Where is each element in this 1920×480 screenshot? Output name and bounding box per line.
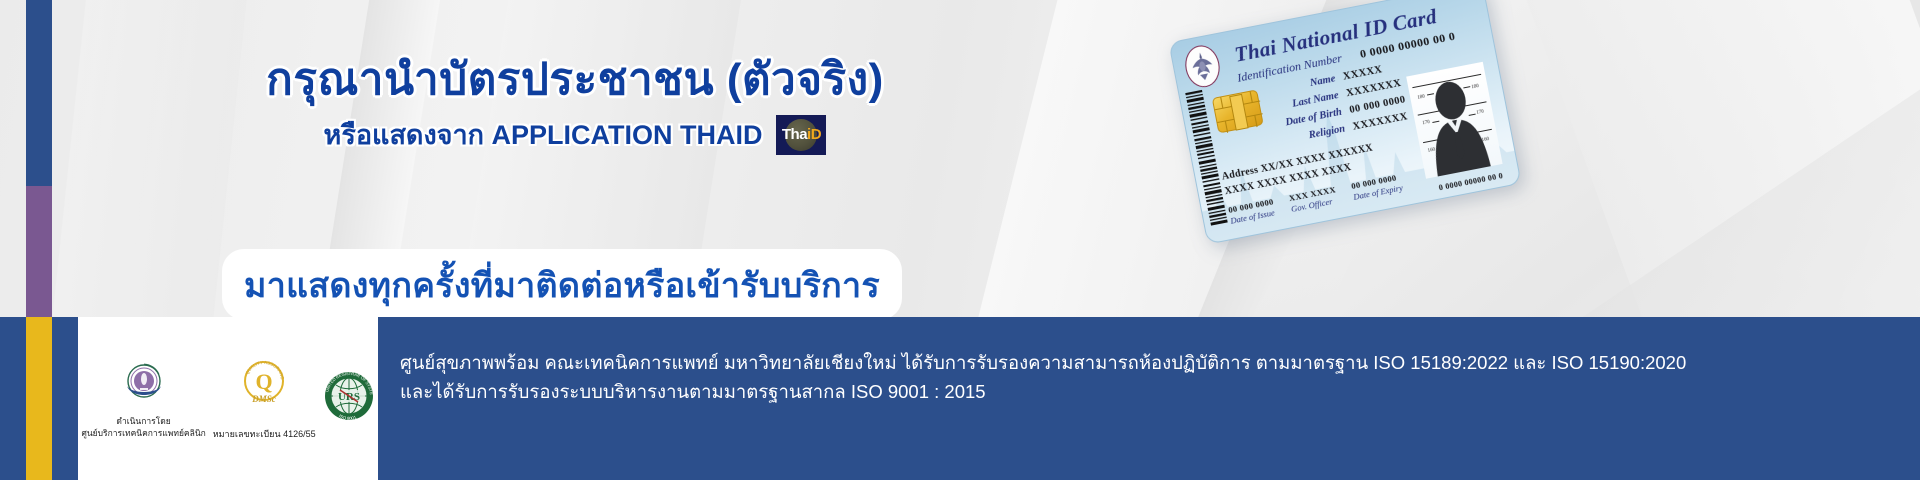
accreditation-logos: ดำเนินการโดย ศูนย์บริการเทคนิคการแพทย์คล… xyxy=(78,317,378,480)
footer-text-line: ศูนย์สุขภาพพร้อม คณะเทคนิคการแพทย์ มหาวิ… xyxy=(400,349,1880,378)
callout-pill-text: มาแสดงทุกครั้งที่มาติดต่อหรือเข้ารับบริก… xyxy=(244,258,880,312)
thaid-app-icon: ThaiD xyxy=(776,115,826,155)
garuda-icon xyxy=(1187,48,1219,84)
svg-text:180: 180 xyxy=(1471,84,1480,90)
logo-caption-line: ศูนย์บริการเทคนิคการแพทย์คลินิก xyxy=(81,428,205,439)
logo-caption: ดำเนินการโดย ศูนย์บริการเทคนิคการแพทย์คล… xyxy=(81,416,205,438)
amtc-clinic-seal-icon xyxy=(119,358,169,408)
thaid-logo-text: ThaiD xyxy=(782,127,821,142)
thaid-text-white: Tha xyxy=(782,126,807,143)
dmsc-quality-assurance-seal-icon: Q QUALITY ASSURANCE DMSc xyxy=(239,356,289,406)
footer-gold-stripe xyxy=(26,317,52,480)
headline-secondary-row: หรือแสดงจาก APPLICATION THAID ThaiD xyxy=(0,113,1150,156)
headline-block: กรุณานำบัตรประชาชน (ตัวจริง) หรือแสดงจาก… xyxy=(0,52,1150,156)
card-field-values: XXXXX XXXXXXX 00 000 0000 XXXXXXX xyxy=(1342,58,1411,136)
left-accent-bars xyxy=(26,0,52,320)
headline-primary: กรุณานำบัตรประชาชน (ตัวจริง) xyxy=(0,52,1150,107)
svg-text:Q: Q xyxy=(256,369,273,394)
logo-item: ดำเนินการโดย ศูนย์บริการเทคนิคการแพทย์คล… xyxy=(81,358,205,438)
banner-root: กรุณานำบัตรประชาชน (ตัวจริง) หรือแสดงจาก… xyxy=(0,0,1920,480)
garuda-emblem-icon xyxy=(1182,42,1223,90)
svg-text:160: 160 xyxy=(1427,147,1436,153)
card-field-labels: Name Last Name Date of Birth Religion xyxy=(1271,70,1347,149)
urs-iso9001-seal-icon: URS UNITED REGISTRAR OF SYSTEMS ISO 9001 xyxy=(323,370,375,422)
footer-accreditation-text: ศูนย์สุขภาพพร้อม คณะเทคนิคการแพทย์ มหาวิ… xyxy=(400,349,1880,406)
svg-text:170: 170 xyxy=(1422,120,1431,126)
accent-bar-purple xyxy=(26,186,52,320)
footer-text-line: และได้รับการรับรองระบบบริหารงานตามมาตรฐา… xyxy=(400,378,1880,407)
thaid-text-gold: iD xyxy=(807,126,821,143)
logo-item: Q QUALITY ASSURANCE DMSc หมายเลขทะเบียน … xyxy=(213,356,316,441)
logo-item: URS UNITED REGISTRAR OF SYSTEMS ISO 9001 xyxy=(323,370,375,427)
svg-text:170: 170 xyxy=(1476,109,1485,115)
smart-chip-icon xyxy=(1212,89,1264,133)
svg-text:180: 180 xyxy=(1417,94,1426,100)
logo-caption-line: ดำเนินการโดย xyxy=(81,416,205,427)
svg-text:DMSc: DMSc xyxy=(251,394,276,404)
callout-pill: มาแสดงทุกครั้งที่มาติดต่อหรือเข้ารับบริก… xyxy=(222,249,902,320)
headline-secondary: หรือแสดงจาก APPLICATION THAID xyxy=(324,113,763,156)
footer-bar: ดำเนินการโดย ศูนย์บริการเทคนิคการแพทย์คล… xyxy=(0,317,1920,480)
logo-caption: หมายเลขทะเบียน 4126/55 xyxy=(213,427,316,441)
